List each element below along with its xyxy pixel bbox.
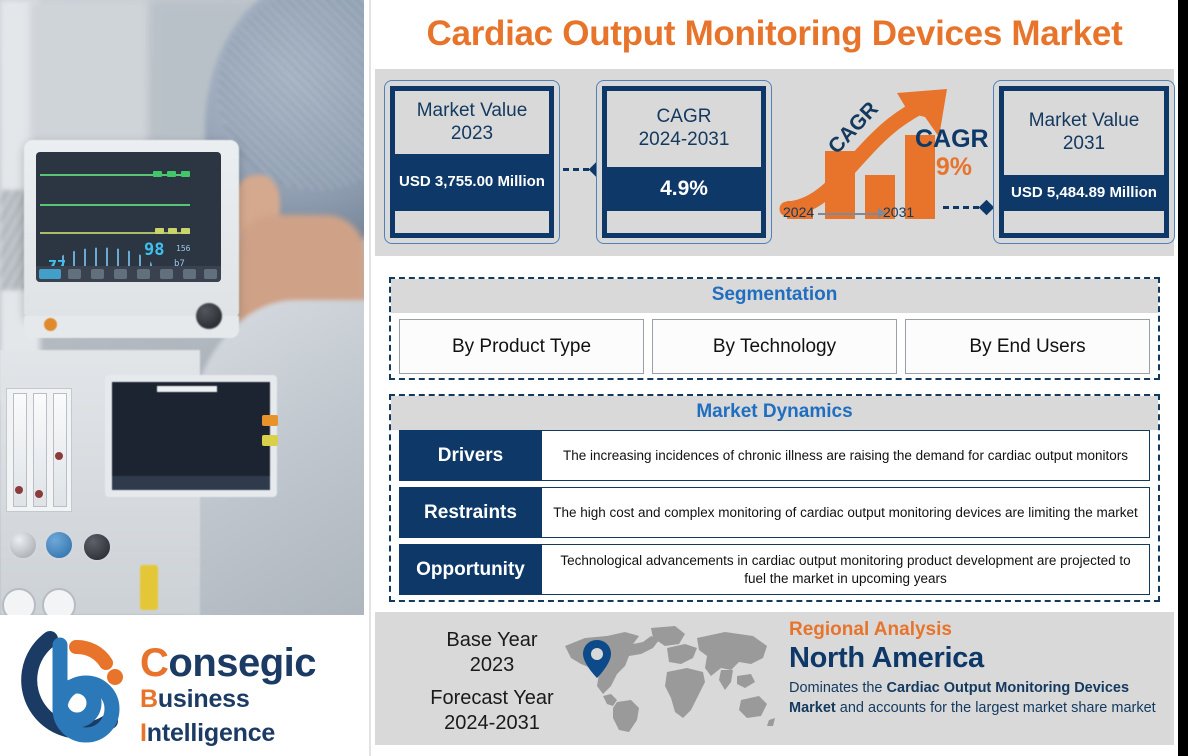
photo-monitor-tab (114, 269, 127, 279)
dynamics-row-restraints: Restraints The high cost and complex mon… (399, 487, 1150, 538)
base-year-label: Base Year (407, 628, 577, 653)
stat-value: USD 5,484.89 Million (1004, 175, 1164, 211)
photo-flow-ball (15, 486, 23, 494)
page-title: Cardiac Output Monitoring Devices Market (371, 0, 1178, 67)
stat-card-footer (607, 211, 761, 233)
market-dynamics-heading: Market Dynamics (391, 396, 1158, 430)
connector-2 (943, 202, 992, 213)
stat-label-line1: Market Value (1029, 110, 1140, 133)
photo-small-value-1: 156 (176, 244, 190, 253)
dynamics-text-restraints: The high cost and complex monitoring of … (542, 487, 1150, 538)
stat-card-footer (1004, 211, 1164, 233)
stat-label-line2: 2023 (451, 123, 493, 146)
photo-monitor-tab-active (39, 269, 61, 279)
regional-analysis-band: Base Year 2023 Forecast Year 2024-2031 (375, 612, 1174, 745)
regional-text-block: Regional Analysis North America Dominate… (789, 618, 1169, 718)
stat-card-header: CAGR 2024-2031 (607, 91, 761, 167)
photo-blip (181, 171, 190, 177)
photo-yellow-button (262, 435, 278, 446)
stat-card-frame: Market Value 2031 USD 5,484.89 Million (999, 86, 1169, 238)
photo-blip (155, 228, 164, 234)
logo-mark-icon (14, 625, 134, 745)
photo-knob-dark (82, 532, 112, 562)
stat-card-header: Market Value 2031 (1004, 91, 1164, 175)
stat-label-line1: Market Value (417, 100, 528, 123)
stat-card-footer (395, 211, 549, 233)
cagr-year-arrow (818, 213, 880, 215)
photo-flowmeter-panel (6, 388, 72, 512)
logo-i-letter: I (140, 719, 147, 747)
photo-screen-toolbar (112, 476, 270, 490)
stat-label-line2: 2031 (1063, 133, 1105, 156)
photo-secondary-screen (105, 375, 277, 497)
cagr-year-end: 2031 (883, 204, 914, 220)
photo-blip (153, 171, 162, 177)
market-dynamics-panel: Market Dynamics Drivers The increasing i… (389, 394, 1160, 602)
hero-photo-medical-monitor: 98 77 156 b7 (0, 0, 364, 615)
logo-ntelligence: ntelligence (147, 719, 275, 747)
photo-monitor-taskbar (36, 266, 221, 282)
dynamics-row-opportunity: Opportunity Technological advancements i… (399, 544, 1150, 595)
segmentation-item-end-users[interactable]: By End Users (905, 319, 1150, 374)
photo-blip (168, 228, 177, 234)
stat-value: 4.9% (607, 167, 761, 211)
brand-logo: Consegic Business Intelligence (0, 615, 364, 756)
stats-band: Market Value 2023 USD 3,755.00 Million C… (375, 69, 1174, 256)
logo-onsegic: onsegic (168, 641, 316, 685)
photo-spo2-value: 98 (144, 240, 164, 260)
photo-monitor-tab (204, 269, 217, 279)
stat-card-header: Market Value 2023 (395, 91, 549, 154)
segmentation-item-technology[interactable]: By Technology (652, 319, 897, 374)
photo-knob (8, 530, 38, 560)
forecast-year-label: Forecast Year (407, 686, 577, 711)
stat-label-line2: 2024-2031 (639, 129, 730, 152)
photo-blip (167, 171, 176, 177)
segmentation-item-product-type[interactable]: By Product Type (399, 319, 644, 374)
dynamics-text-opportunity: Technological advancements in cardiac ou… (542, 544, 1150, 595)
photo-knob-blue (44, 530, 74, 560)
world-map-icon (555, 624, 775, 734)
dynamics-row-drivers: Drivers The increasing incidences of chr… (399, 430, 1150, 481)
stat-card-market-value-2023: Market Value 2023 USD 3,755.00 Million (384, 80, 560, 244)
photo-gauge (42, 588, 76, 615)
photo-flow-ball (35, 490, 43, 498)
logo-c-letter: C (140, 641, 168, 685)
right-column: Cardiac Output Monitoring Devices Market… (371, 0, 1178, 756)
dynamics-label-drivers: Drivers (399, 430, 542, 481)
logo-wordmark: Consegic Business Intelligence (140, 643, 364, 751)
photo-monitor-knob (196, 303, 222, 329)
photo-monitor-tab (68, 269, 81, 279)
years-block: Base Year 2023 Forecast Year 2024-2031 (407, 628, 577, 736)
photo-flow-tube (33, 393, 47, 507)
photo-flow-tube (13, 393, 27, 507)
regional-desc-post: and accounts for the largest market shar… (836, 700, 1156, 716)
stat-value: USD 3,755.00 Million (395, 154, 549, 211)
stat-card-frame: CAGR 2024-2031 4.9% (602, 86, 766, 238)
forecast-year-block: Forecast Year 2024-2031 (407, 686, 577, 736)
forecast-year-value: 2024-2031 (407, 711, 577, 736)
photo-power-indicator (44, 318, 57, 331)
cagr-graphic-label: CAGR (915, 127, 989, 152)
stat-label-line1: CAGR (657, 106, 712, 129)
dynamics-label-restraints: Restraints (399, 487, 542, 538)
photo-monitor-tab (91, 269, 104, 279)
left-column: 98 77 156 b7 (0, 0, 364, 756)
connector-dashes (563, 168, 589, 171)
connector-dashes (943, 206, 979, 209)
stat-card-frame: Market Value 2023 USD 3,755.00 Million (390, 86, 554, 238)
photo-blip (181, 228, 190, 234)
regional-desc-pre: Dominates the (789, 680, 887, 696)
cagr-year-start: 2024 (783, 204, 814, 220)
segmentation-row: By Product Type By Technology By End Use… (391, 313, 1158, 382)
base-year-value: 2023 (407, 653, 577, 678)
dynamics-label-opportunity: Opportunity (399, 544, 542, 595)
logo-b-letter: B (140, 685, 158, 713)
regional-description: Dominates the Cardiac Output Monitoring … (789, 678, 1169, 718)
photo-flow-ball (55, 452, 63, 460)
infographic-page: 98 77 156 b7 (0, 0, 1188, 756)
photo-orange-button (262, 415, 278, 426)
stat-card-cagr: CAGR 2024-2031 4.9% (596, 80, 772, 244)
photo-flow-tube (53, 393, 67, 507)
photo-ecg-trace (40, 204, 190, 206)
photo-yellow-canister (140, 565, 158, 610)
segmentation-heading: Segmentation (391, 279, 1158, 313)
base-year-block: Base Year 2023 (407, 628, 577, 678)
regional-region-name: North America (789, 642, 1169, 675)
logo-line-consegic: Consegic (140, 643, 364, 683)
dynamics-text-drivers: The increasing incidences of chronic ill… (542, 430, 1150, 481)
photo-gauge (2, 588, 36, 615)
photo-monitor-tab (137, 269, 150, 279)
stat-card-market-value-2031: Market Value 2031 USD 5,484.89 Million (993, 80, 1175, 244)
photo-monitor-tab (183, 269, 196, 279)
photo-screen-highlight (157, 386, 217, 392)
logo-line-tagline: Business Intelligence (140, 683, 364, 751)
right-edge-band (1178, 0, 1188, 756)
cagr-graphic-value: 4.9% (915, 155, 972, 180)
logo-usiness: usiness (158, 685, 250, 713)
connector-diamond (979, 200, 995, 216)
photo-monitor-screen: 98 77 156 b7 (36, 152, 221, 282)
regional-analysis-heading: Regional Analysis (789, 618, 1169, 642)
photo-monitor-tab (160, 269, 173, 279)
segmentation-panel: Segmentation By Product Type By Technolo… (389, 277, 1160, 380)
